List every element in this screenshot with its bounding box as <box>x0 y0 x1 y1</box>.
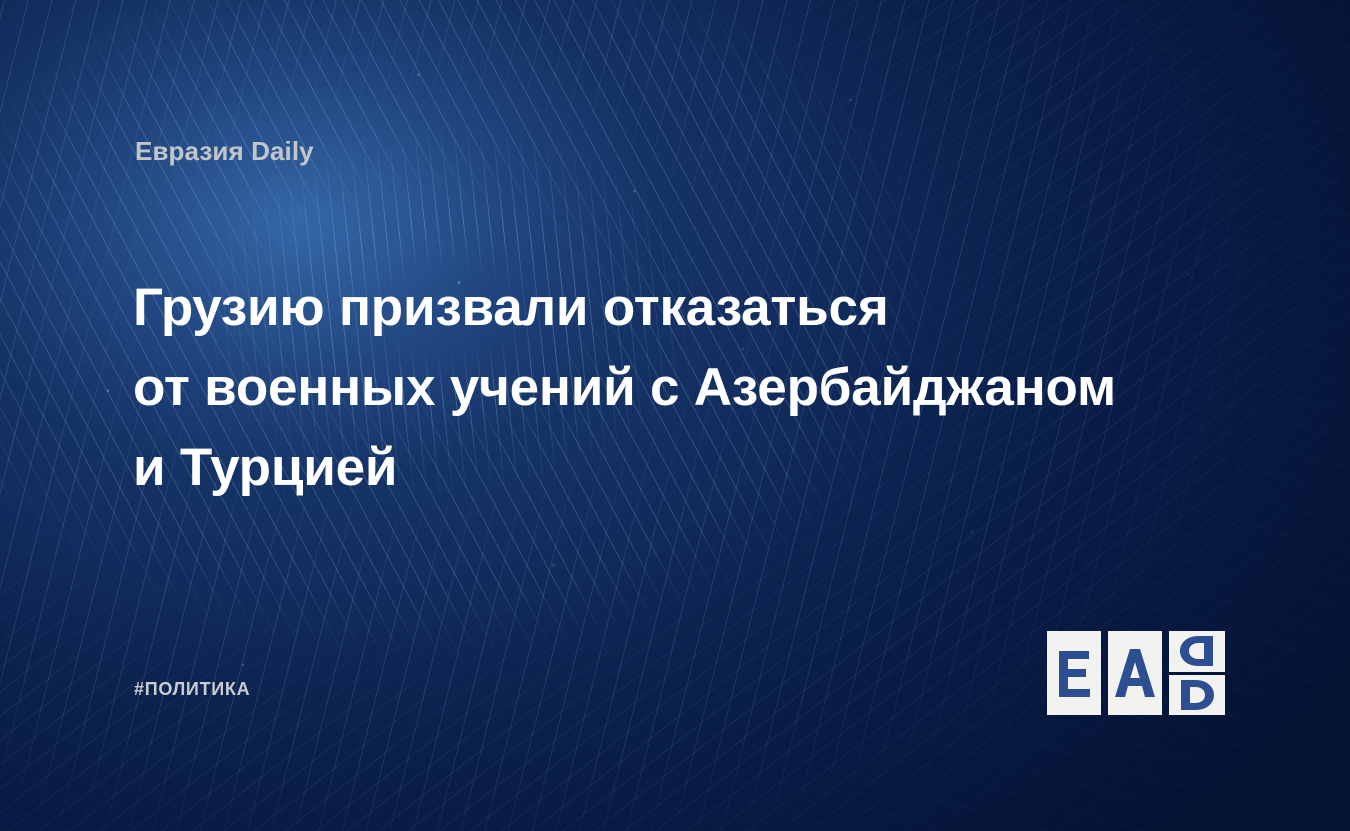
logo-tile-d-bottom <box>1169 675 1225 716</box>
category-hashtag[interactable]: #ПОЛИТИКА <box>134 679 250 700</box>
logo-tile-column-d <box>1169 631 1225 715</box>
logo-tile-a <box>1108 631 1162 715</box>
headline-line-2: от военных учений с Азербайджаном <box>133 348 1213 428</box>
headline-line-3: и Турцией <box>133 428 1213 508</box>
card-content: Евразия Daily Грузию призвали отказаться… <box>0 0 1350 831</box>
logo-tile-e <box>1047 631 1101 715</box>
headline-line-1: Грузию призвали отказаться <box>133 268 1213 348</box>
eadaily-logo[interactable] <box>1047 631 1225 715</box>
page-title: Грузию призвали отказаться от военных уч… <box>133 268 1213 508</box>
letter-d-rotated-icon <box>1179 636 1215 666</box>
share-card: Евразия Daily Грузию призвали отказаться… <box>0 0 1350 831</box>
letter-d-icon <box>1179 680 1215 710</box>
logo-tile-d-top <box>1169 631 1225 672</box>
letter-a-icon <box>1115 649 1155 697</box>
letter-e-icon <box>1057 649 1091 697</box>
brand-name: Евразия Daily <box>135 136 314 167</box>
